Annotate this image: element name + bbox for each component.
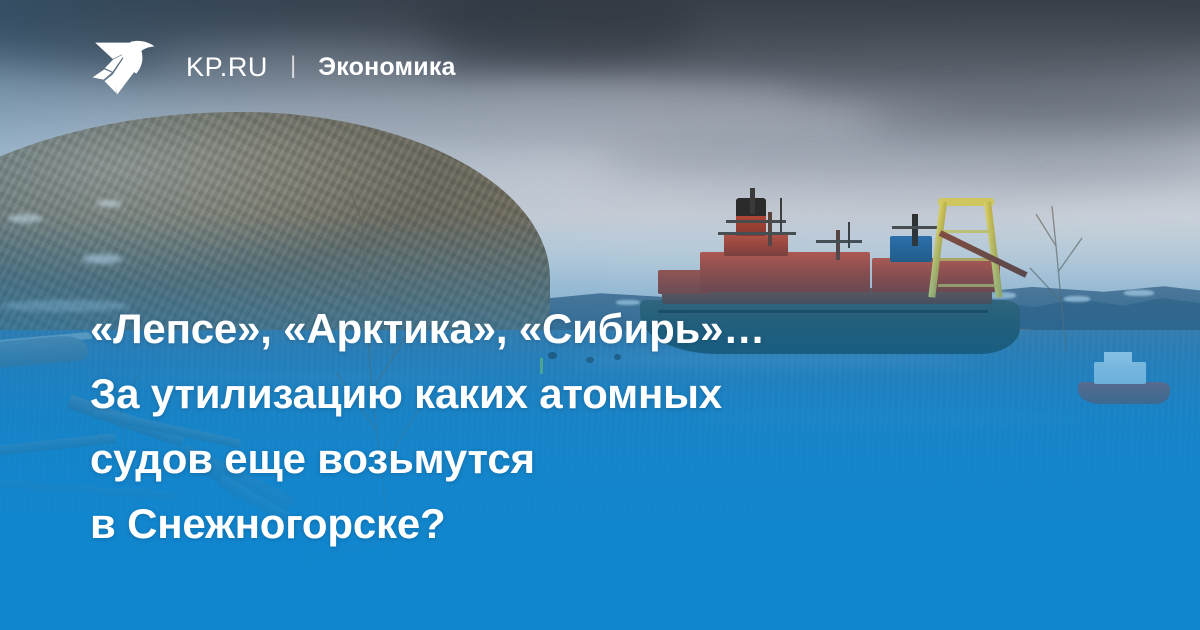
site-header: KP.RU | Экономика [92, 36, 456, 98]
headline: «Лепсе», «Арктика», «Сибирь»… За утилиза… [90, 296, 1070, 556]
kp-swallow-bird-logo-icon[interactable] [92, 36, 158, 98]
kp-swallow-bird-logo-icon [92, 36, 158, 98]
headline-line-3: судов еще возьмутся [90, 426, 1070, 491]
headline-line-1: «Лепсе», «Арктика», «Сибирь»… [90, 296, 1070, 361]
brand-name[interactable]: KP.RU [186, 54, 268, 81]
brand-row: KP.RU | Экономика [186, 54, 456, 81]
brand-separator: | [290, 54, 296, 78]
section-label-economics[interactable]: Экономика [318, 55, 455, 80]
headline-line-2: За утилизацию каких атомных [90, 361, 1070, 426]
social-share-card: KP.RU | Экономика «Лепсе», «Арктика», «С… [0, 0, 1200, 630]
headline-line-4: в Снежногорске? [90, 491, 1070, 556]
